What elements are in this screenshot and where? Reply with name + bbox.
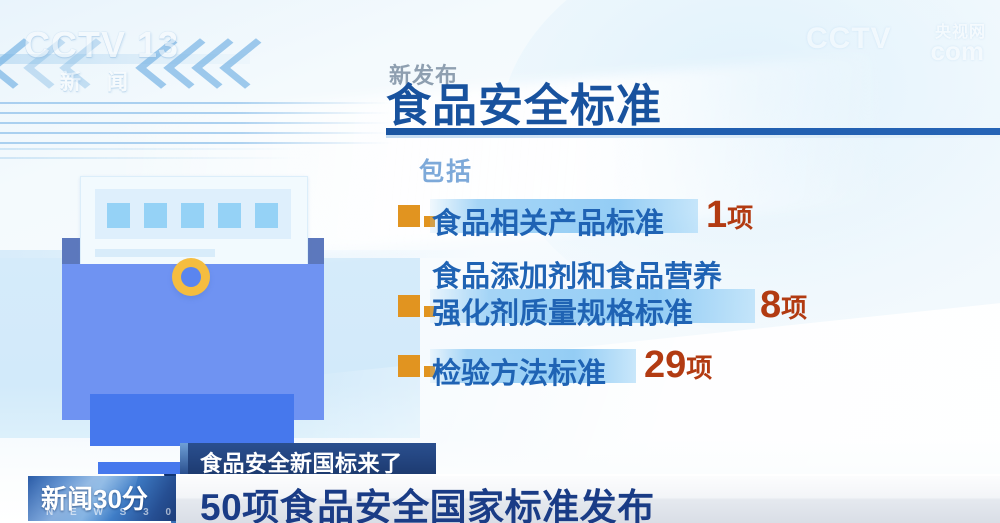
headline-text: 50项食品安全国家标准发布 (200, 477, 655, 523)
document-sheet-icon (80, 176, 308, 270)
title-underline-shadow (386, 135, 1000, 138)
headline-bar: 50项食品安全国家标准发布 (176, 474, 1000, 523)
item-label: 食品相关产品标准 (432, 200, 664, 242)
document-square-icon (218, 203, 241, 228)
folder-knob-core (181, 267, 201, 287)
program-logo-latin: N E W S 3 0 (46, 507, 176, 518)
item-count-value: 8 (760, 284, 781, 326)
document-square-icon (144, 203, 167, 228)
item-label: 检验方法标准 (432, 350, 606, 392)
cctv13-logo-subtitle: 新 闻 (60, 66, 194, 96)
cctv-watermark-latin: CCTV (806, 22, 892, 56)
item-label-line2: 强化剂质量规格标准 (432, 290, 693, 332)
item-count: 1项 (706, 194, 753, 237)
folder-band-large (90, 394, 294, 446)
item-count: 29项 (644, 344, 712, 387)
document-square-icon (255, 203, 278, 228)
cctv13-logo: CCTV 13 新 闻 (24, 26, 194, 88)
headline-bar-top-edge (176, 474, 1000, 476)
item-count-unit: 项 (686, 353, 712, 383)
document-folder-illustration (62, 176, 324, 420)
broadcast-graphic-frame: CCTV 13 新 闻 CCTV 央视网 com 新发布 食品安全标准 包括 (0, 0, 1000, 523)
item-count-unit: 项 (781, 293, 807, 323)
document-text-line (95, 249, 215, 257)
stripe-decoration-faint (0, 148, 300, 164)
item-count: 8项 (760, 284, 807, 327)
includes-label: 包括 (419, 152, 473, 188)
item-label: 食品添加剂和食品营养 (432, 253, 722, 295)
topic-strip: 食品安全新国标来了 (188, 443, 436, 474)
document-header-band (95, 189, 291, 239)
folder-knob-icon (172, 258, 210, 296)
title-underline (386, 128, 1000, 135)
item-count-unit: 项 (727, 203, 753, 233)
stripe-decoration (0, 102, 392, 144)
page-title: 食品安全标准 (386, 82, 662, 130)
program-logo: 新闻30分 N E W S 3 0 (28, 476, 176, 521)
document-square-icon (181, 203, 204, 228)
document-square-icon (107, 203, 130, 228)
item-count-value: 1 (706, 194, 727, 236)
cctv-com-watermark: CCTV 央视网 com (798, 16, 988, 62)
cctv-watermark-com: com (931, 36, 984, 67)
item-count-value: 29 (644, 344, 686, 386)
cctv13-logo-text: CCTV 13 (24, 26, 194, 64)
